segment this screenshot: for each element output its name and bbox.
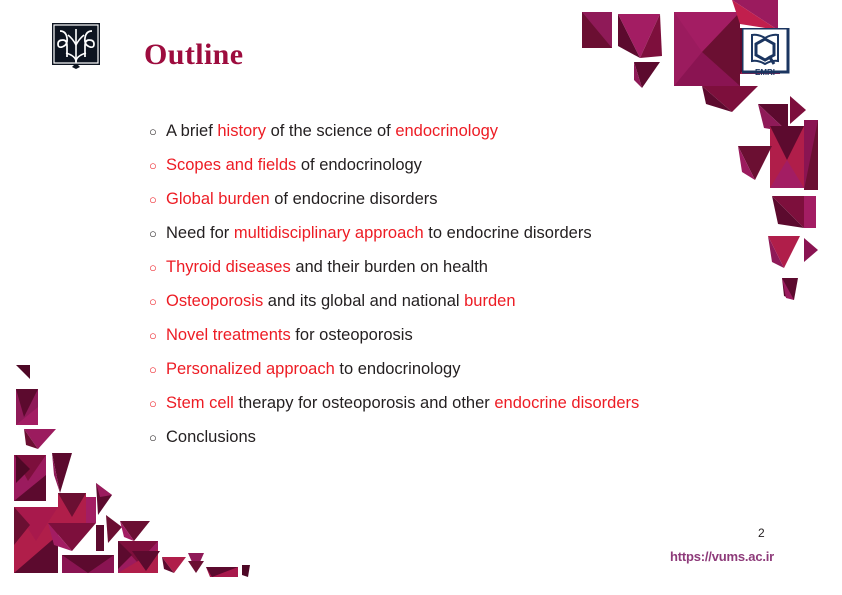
text-segment: burden bbox=[464, 292, 515, 310]
outline-item: ○Osteoporosis and its global and nationa… bbox=[149, 291, 789, 325]
emri-logo-text: EMRI bbox=[755, 68, 775, 77]
text-segment: A brief bbox=[166, 122, 217, 140]
text-segment: Need for bbox=[166, 224, 234, 242]
bullet-icon: ○ bbox=[149, 224, 166, 244]
text-segment: Osteoporosis bbox=[166, 292, 263, 310]
bullet-icon: ○ bbox=[149, 122, 166, 142]
outline-item-text: Need for multidisciplinary approach to e… bbox=[166, 223, 592, 243]
bullet-icon: ○ bbox=[149, 258, 166, 278]
outline-item: ○Scopes and fields of endocrinology bbox=[149, 155, 789, 189]
page-title: Outline bbox=[144, 22, 243, 70]
text-segment: of endocrinology bbox=[296, 156, 422, 174]
slide-header: Outline bbox=[52, 22, 243, 70]
emri-logo: EMRI bbox=[742, 28, 790, 78]
bullet-icon: ○ bbox=[149, 292, 166, 312]
text-segment: for osteoporosis bbox=[291, 326, 413, 344]
outline-item: ○Global burden of endocrine disorders bbox=[149, 189, 789, 223]
outline-list: ○A brief history of the science of endoc… bbox=[149, 121, 789, 461]
open-book-emblem bbox=[52, 23, 100, 69]
outline-item-text: Stem cell therapy for osteoporosis and o… bbox=[166, 393, 639, 413]
text-segment: and their burden on health bbox=[291, 258, 488, 276]
presentation-slide: Outline EMRI ○A brief history of the sci… bbox=[0, 0, 842, 595]
text-segment: and its global and national bbox=[263, 292, 464, 310]
text-segment: multidisciplinary approach bbox=[234, 224, 424, 242]
text-segment: Scopes and fields bbox=[166, 156, 296, 174]
text-segment: to endocrinology bbox=[335, 360, 461, 378]
text-segment: Novel treatments bbox=[166, 326, 291, 344]
text-segment: therapy for osteoporosis and other bbox=[234, 394, 495, 412]
outline-item: ○Novel treatments for osteoporosis bbox=[149, 325, 789, 359]
bullet-icon: ○ bbox=[149, 428, 166, 448]
bullet-icon: ○ bbox=[149, 156, 166, 176]
bullet-icon: ○ bbox=[149, 326, 166, 346]
bullet-icon: ○ bbox=[149, 360, 166, 380]
bullet-icon: ○ bbox=[149, 190, 166, 210]
page-number: 2 bbox=[758, 526, 765, 540]
outline-item: ○Conclusions bbox=[149, 427, 789, 461]
text-segment: Personalized approach bbox=[166, 360, 335, 378]
outline-item-text: A brief history of the science of endocr… bbox=[166, 121, 498, 141]
outline-item-text: Global burden of endocrine disorders bbox=[166, 189, 438, 209]
outline-item-text: Conclusions bbox=[166, 427, 256, 447]
text-segment: endocrinology bbox=[395, 122, 498, 140]
text-segment: of the science of bbox=[266, 122, 395, 140]
text-segment: Stem cell bbox=[166, 394, 234, 412]
outline-item: ○Stem cell therapy for osteoporosis and … bbox=[149, 393, 789, 427]
site-url[interactable]: https://vums.ac.ir bbox=[670, 549, 774, 564]
outline-item-text: Scopes and fields of endocrinology bbox=[166, 155, 422, 175]
text-segment: endocrine disorders bbox=[494, 394, 639, 412]
text-segment: Thyroid diseases bbox=[166, 258, 291, 276]
text-segment: to endocrine disorders bbox=[424, 224, 592, 242]
text-segment: Conclusions bbox=[166, 428, 256, 446]
outline-item-text: Osteoporosis and its global and national… bbox=[166, 291, 516, 311]
outline-item: ○Need for multidisciplinary approach to … bbox=[149, 223, 789, 257]
outline-item-text: Personalized approach to endocrinology bbox=[166, 359, 460, 379]
text-segment: history bbox=[217, 122, 266, 140]
outline-item-text: Novel treatments for osteoporosis bbox=[166, 325, 413, 345]
outline-item: ○Thyroid diseases and their burden on he… bbox=[149, 257, 789, 291]
outline-item: ○A brief history of the science of endoc… bbox=[149, 121, 789, 155]
outline-item: ○Personalized approach to endocrinology bbox=[149, 359, 789, 393]
text-segment: of endocrine disorders bbox=[270, 190, 438, 208]
bullet-icon: ○ bbox=[149, 394, 166, 414]
outline-item-text: Thyroid diseases and their burden on hea… bbox=[166, 257, 488, 277]
text-segment: Global burden bbox=[166, 190, 270, 208]
